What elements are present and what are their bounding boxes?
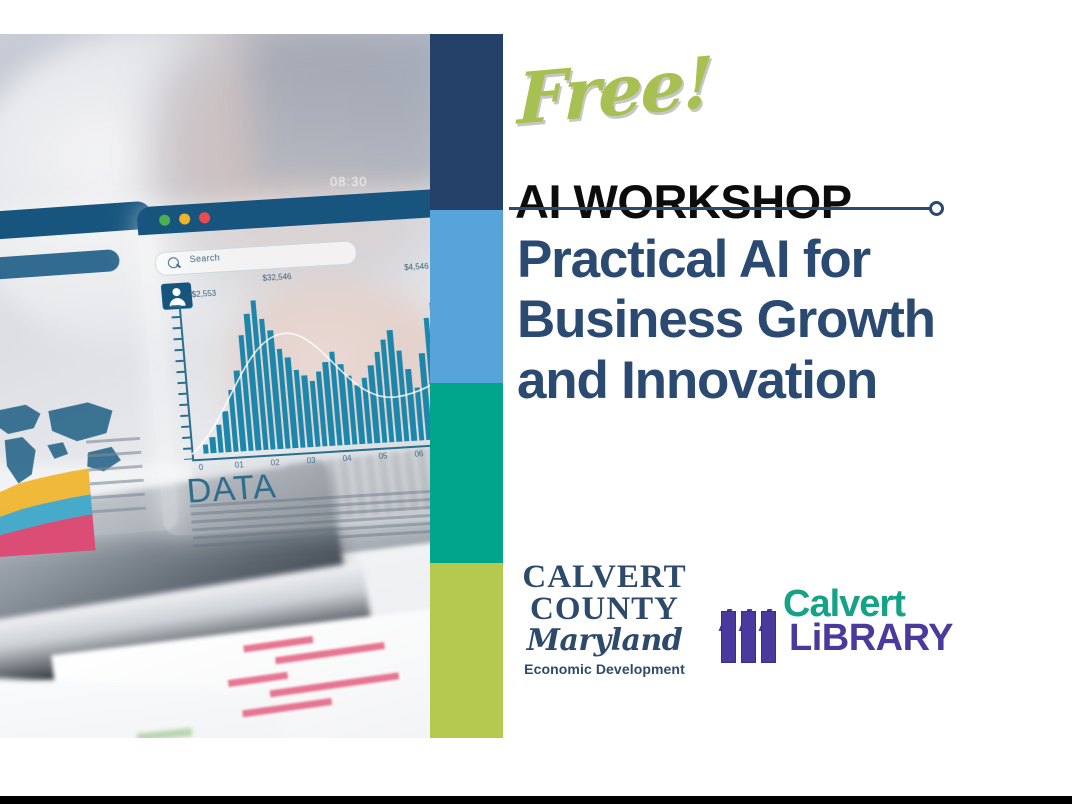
headline: Practical AI for Business Growth and Inn… [517,230,1072,411]
holo-value-label-3: $4,546 [404,262,429,272]
holo-search-right: Search [154,240,358,276]
holo-xtick-2: 02 [270,458,280,468]
calvert-county-script: Maryland [517,624,692,657]
calvert-county-tagline: Economic Development [517,661,692,677]
free-badge: Free! [517,47,713,134]
holo-search-right-label: Search [189,252,220,264]
library-word-library: LiBRARY [789,617,953,660]
library-book-1-icon [721,611,736,663]
color-stripe-green [430,563,503,738]
holo-xtick-0: 0 [198,463,203,472]
headline-line-1: Practical AI for [517,230,1072,290]
library-book-3-icon [761,611,776,663]
color-stripe-navy [430,34,503,210]
search-icon [167,257,179,269]
library-books-icon [721,607,783,663]
calvert-county-line1: CALVERT [517,562,692,593]
photo-clock-label: 08:30 [330,174,368,189]
holo-panel-data: Search $2,553 $32,546 $4,546 $400 0 01 0… [136,182,440,536]
hero-photo: 08:30 Search AI [0,34,440,738]
calvert-library-logo: Calvert LiBRARY [721,579,961,669]
holo-xtick-3: 03 [306,456,316,466]
window-dot-green-icon [159,214,171,226]
library-book-2-icon [741,611,756,663]
page-title: AI WORKSHOP [515,174,852,229]
holo-area-chart [0,461,96,563]
logo-row: CALVERT COUNTY Maryland Economic Develop… [503,554,1072,734]
headline-line-3: and Innovation [517,351,1072,411]
window-dot-red-icon [199,212,211,224]
poster-canvas: 08:30 Search AI [0,0,1072,804]
color-stripe-column [430,34,503,738]
title-divider [509,207,941,210]
bottom-black-bar [0,796,1072,804]
divider-end-circle-icon [929,201,944,216]
holo-search-left: Search [0,249,120,286]
holo-xtick-4: 04 [342,454,352,464]
holo-trend-line [179,282,440,464]
calvert-county-logo: CALVERT COUNTY Maryland Economic Develop… [517,562,692,677]
holo-value-label-1: $2,553 [191,289,216,299]
headline-line-2: Business Growth [517,290,1072,350]
color-stripe-light-blue [430,210,503,383]
poster-content: Free! AI WORKSHOP Practical AI for Busin… [503,34,1072,738]
calvert-county-line2: COUNTY [517,593,692,626]
holo-xtick-5: 05 [378,451,388,461]
holo-legend-lines [86,437,148,530]
photo-background-shade [250,34,440,184]
holo-xtick-6: 06 [414,449,424,459]
holo-value-label-2: $32,546 [262,272,292,283]
color-stripe-teal [430,383,503,563]
window-dot-yellow-icon [179,213,191,225]
